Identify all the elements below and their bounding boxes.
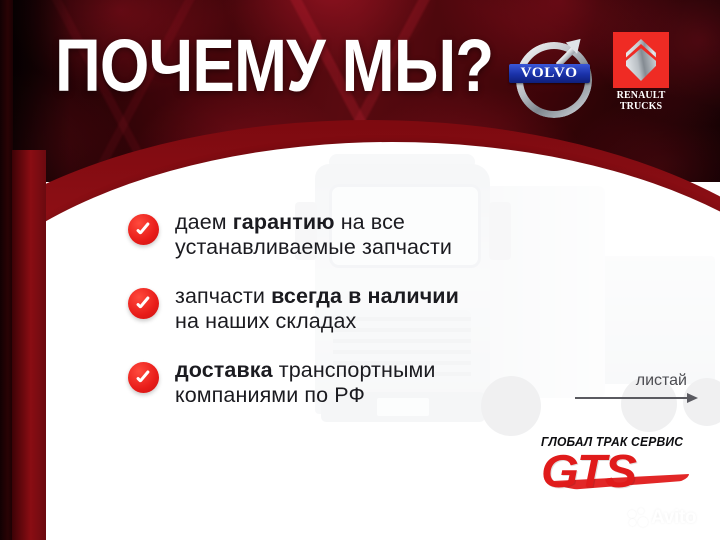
- list-item: даем гарантию на все устанавливаемые зап…: [128, 210, 558, 260]
- ad-banner: ПОЧЕМУ МЫ? VOLVO RENAULT TRUCKS: [0, 0, 720, 540]
- renault-square: [613, 32, 669, 88]
- gts-logo: ГЛОБАЛ ТРАК СЕРВИС GTS: [541, 434, 689, 492]
- benefit-suffix: на все: [335, 210, 405, 234]
- arrow-right-icon: [575, 393, 703, 403]
- renault-wordmark-line2: TRUCKS: [613, 101, 669, 112]
- renault-wordmark: RENAULT TRUCKS: [613, 90, 669, 112]
- check-circle-icon: [128, 214, 159, 245]
- benefit-strong: доставка: [175, 358, 273, 382]
- renault-diamond-icon: [626, 39, 656, 81]
- benefit-text: даем гарантию на все устанавливаемые зап…: [175, 210, 452, 260]
- avito-watermark: Avito: [628, 506, 710, 530]
- benefit-line2: на наших складах: [175, 309, 356, 333]
- benefit-text: запчасти всегда в наличии на наших склад…: [175, 284, 459, 334]
- benefit-prefix: запчасти: [175, 284, 271, 308]
- benefit-strong: всегда в наличии: [271, 284, 459, 308]
- gts-wordmark-wrap: GTS: [541, 448, 689, 494]
- check-circle-icon: [128, 362, 159, 393]
- check-circle-icon: [128, 288, 159, 319]
- volvo-arrow-icon: [560, 37, 586, 63]
- swipe-label: листай: [575, 372, 703, 390]
- avito-dots-icon: [628, 508, 648, 528]
- list-item: доставка транспортными компаниями по РФ: [128, 358, 558, 408]
- benefit-line2: компаниями по РФ: [175, 383, 365, 407]
- renault-trucks-logo: RENAULT TRUCKS: [613, 32, 669, 114]
- benefits-list: даем гарантию на все устанавливаемые зап…: [128, 210, 558, 432]
- benefit-line2: устанавливаемые запчасти: [175, 235, 452, 259]
- left-red-edge: [12, 150, 46, 540]
- volvo-logo: VOLVO: [512, 33, 588, 111]
- list-item: запчасти всегда в наличии на наших склад…: [128, 284, 558, 334]
- renault-wordmark-line1: RENAULT: [613, 90, 669, 101]
- page-title: ПОЧЕМУ МЫ?: [55, 28, 416, 104]
- benefit-strong: гарантию: [233, 210, 335, 234]
- volvo-wordmark-band: VOLVO: [509, 64, 590, 83]
- benefit-suffix: транспортными: [273, 358, 436, 382]
- swipe-hint: листай: [575, 372, 703, 403]
- benefit-text: доставка транспортными компаниями по РФ: [175, 358, 436, 408]
- avito-wordmark: Avito: [651, 507, 696, 529]
- volvo-wordmark: VOLVO: [521, 65, 578, 82]
- gts-wordmark: GTS: [541, 448, 698, 494]
- benefit-prefix: даем: [175, 210, 233, 234]
